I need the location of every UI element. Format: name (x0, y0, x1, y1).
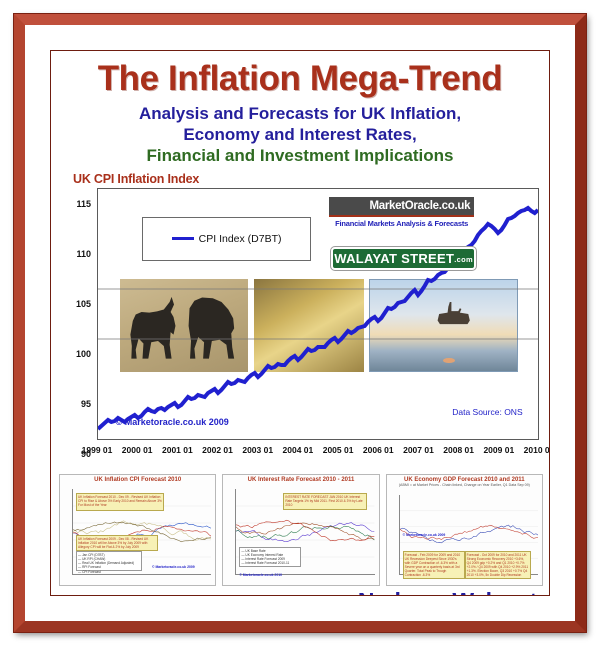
walayat-street-dotcom: .com (454, 255, 473, 264)
marketoracle-logo[interactable]: MarketOracle.co.uk Financial Markets Ana… (329, 197, 474, 228)
mini-legend-item: — CPI Forecast (78, 570, 140, 574)
mini-chart-inflation[interactable]: UK Inflation CPI Forecast 2010 UK Inflat… (59, 474, 216, 586)
mini-charts-row: UK Inflation CPI Forecast 2010 UK Inflat… (59, 474, 543, 586)
legend-swatch-cpi (172, 237, 194, 240)
x-axis-tick: 2006 01 (363, 445, 394, 455)
mini-chart-title: UK Interest Rate Forecast 2010 - 2011 (223, 475, 378, 483)
x-axis-tick: 2002 01 (202, 445, 233, 455)
mini-note-top: INTEREST RATE FORECAST JAN 2010 UK Inter… (283, 493, 367, 510)
chart-title: UK CPI Inflation Index (73, 172, 199, 186)
chart-data-source: Data Source: ONS (452, 407, 522, 417)
mini-chart-title: UK Economy GDP Forecast 2010 and 2011 (387, 475, 542, 483)
subtitle-line-3: Financial and Investment Implications (51, 145, 549, 166)
x-axis-tick: 2001 01 (162, 445, 193, 455)
subtitle-line-1: Analysis and Forecasts for UK Inflation, (51, 103, 549, 124)
chart-plot-area: CPI Index (D7BT) MarketOracle.co.uk Fina… (97, 188, 539, 440)
mini-chart-interest-rate[interactable]: UK Interest Rate Forecast 2010 - 2011 IN… (222, 474, 379, 586)
cover-outer-frame: The Inflation Mega-Trend Analysis and Fo… (14, 14, 586, 632)
page-title: The Inflation Mega-Trend (51, 57, 549, 101)
mini-note-mid: UK Inflation Forecast 2009 - Dec 08 - Re… (76, 535, 158, 551)
legend-label-cpi: CPI Index (D7BT) (199, 233, 282, 245)
y-axis-tick: 110 (76, 249, 91, 259)
chart-copyright: © Marketoracle.co.uk 2009 (116, 417, 229, 427)
y-axis-tick: 95 (81, 399, 91, 409)
mini-chart-title: UK Inflation CPI Forecast 2010 (60, 475, 215, 483)
cover-inner-frame: The Inflation Mega-Trend Analysis and Fo… (50, 50, 550, 596)
mini-note-left: Forecast - Feb 2009 for 2009 and 2010 UK… (403, 551, 465, 579)
x-axis-tick: 2007 01 (403, 445, 434, 455)
x-axis-tick: 2010 01 (524, 445, 550, 455)
book-cover: The Inflation Mega-Trend Analysis and Fo… (0, 0, 600, 646)
mini-note-top: UK Inflation Forecast 2010 - Dec 09 - Re… (76, 493, 164, 511)
subtitle-line-2: Economy and Interest Rates, (51, 124, 549, 145)
x-axis-tick: 2005 01 (323, 445, 354, 455)
x-axis-tick: 2004 01 (283, 445, 314, 455)
mini-chart-gdp[interactable]: UK Economy GDP Forecast 2010 and 2011 (A… (386, 474, 543, 586)
mini-chart-subtitle: (ABMI = at Market Prices - Chain linked,… (387, 483, 542, 487)
x-axis-tick: 2009 01 (483, 445, 514, 455)
mini-legend-item: — Interest Rate Forecast 2010-11 (241, 561, 299, 565)
y-axis-tick: 115 (76, 199, 91, 209)
marketoracle-name: MarketOracle.co.uk (329, 197, 474, 217)
chart-x-axis: 1999 012000 012001 012002 012003 012004 … (97, 442, 539, 464)
x-axis-tick: 1999 01 (82, 445, 113, 455)
mini-legend: — UK Base Rate— UK Economy Interest Rate… (239, 547, 301, 567)
mini-note-right: Forecast - Oct 2009 for 2010 and 2011 UK… (465, 551, 531, 579)
walayat-street-text: WALAYAT STREET (334, 251, 454, 266)
mini-copyright: © Marketoracle.co.uk 2009 (152, 565, 195, 569)
x-axis-tick: 2000 01 (122, 445, 153, 455)
marketoracle-tagline: Financial Markets Analysis & Forecasts (329, 217, 474, 228)
mini-copyright: © Marketoracle.co.uk 2009 (403, 533, 446, 537)
walayat-street-logo[interactable]: WALAYAT STREET.com (331, 247, 476, 270)
x-axis-tick: 2003 01 (242, 445, 273, 455)
chart-y-axis: 9095100105110115 (55, 188, 97, 440)
mini-legend: — Jan CPI (D7BT)— UK RPI (CHAW)— Real UK… (76, 551, 142, 571)
author-name: Nadeem Walayat (51, 586, 549, 596)
main-chart: UK CPI Inflation Index 9095100105110115 (55, 172, 545, 472)
mini-copyright: © Marketoracle.co.uk 2010 (239, 573, 282, 577)
y-axis-tick: 105 (76, 299, 91, 309)
x-axis-tick: 2008 01 (443, 445, 474, 455)
y-axis-tick: 100 (76, 349, 91, 359)
chart-legend: CPI Index (D7BT) (142, 217, 311, 262)
